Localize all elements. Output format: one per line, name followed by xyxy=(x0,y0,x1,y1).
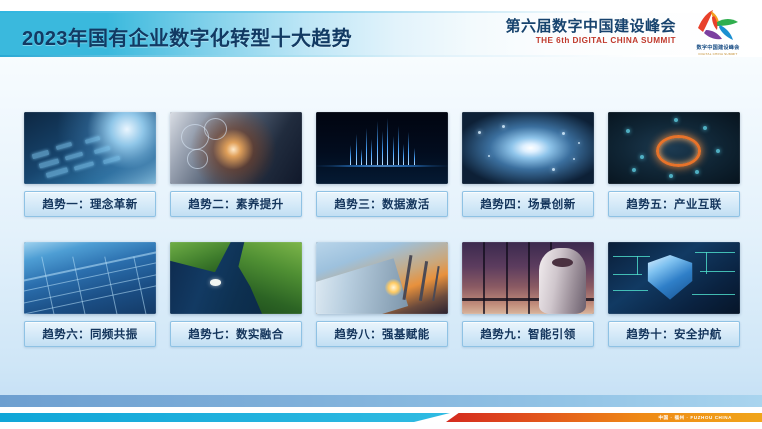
summit-logo-caption-en: DIGITAL CHINA SUMMIT xyxy=(686,52,750,56)
trend-card-grid: 趋势一：理念革新 趋势二：素养提升 xyxy=(24,112,740,347)
trend-thumbnail-2 xyxy=(170,112,302,184)
trend-label-7: 趋势七：数实融合 xyxy=(170,321,302,347)
trend-card-9[interactable]: 趋势九：智能引领 xyxy=(462,242,594,347)
bridge-sunset-icon xyxy=(316,242,448,314)
trend-thumbnail-8 xyxy=(316,242,448,314)
trend-label-text-9: 趋势九：智能引领 xyxy=(480,326,575,342)
trend-thumbnail-1 xyxy=(24,112,156,184)
trend-label-text-5: 趋势五：产业互联 xyxy=(626,196,721,212)
data-tunnel-keyboard-icon xyxy=(24,112,156,184)
robot-cityscape-icon xyxy=(462,242,594,314)
security-shield-circuit-icon xyxy=(608,242,740,314)
mangrove-river-icon xyxy=(170,242,302,314)
trend-thumbnail-4 xyxy=(462,112,594,184)
trend-card-1[interactable]: 趋势一：理念革新 xyxy=(24,112,156,217)
trend-thumbnail-10 xyxy=(608,242,740,314)
trend-thumbnail-9 xyxy=(462,242,594,314)
trend-card-3[interactable]: 趋势三：数据激活 xyxy=(316,112,448,217)
trend-card-8[interactable]: 趋势八：强基赋能 xyxy=(316,242,448,347)
summit-logo-caption: 数字中国建设峰会 DIGITAL CHINA SUMMIT xyxy=(686,44,750,56)
trend-thumbnail-7 xyxy=(170,242,302,314)
trend-label-text-10: 趋势十：安全护航 xyxy=(626,326,721,342)
trend-card-7[interactable]: 趋势七：数实融合 xyxy=(170,242,302,347)
trend-label-5: 趋势五：产业互联 xyxy=(608,191,740,217)
trend-label-4: 趋势四：场景创新 xyxy=(462,191,594,217)
page-title: 2023年国有企业数字化转型十大趋势 xyxy=(22,22,352,51)
trend-card-2[interactable]: 趋势二：素养提升 xyxy=(170,112,302,217)
trend-card-10[interactable]: 趋势十：安全护航 xyxy=(608,242,740,347)
trend-thumbnail-3 xyxy=(316,112,448,184)
trend-label-2: 趋势二：素养提升 xyxy=(170,191,302,217)
trend-thumbnail-6 xyxy=(24,242,156,314)
summit-title-en: THE 6th DIGITAL CHINA SUMMIT xyxy=(505,37,676,45)
trend-row-2: 趋势六：同频共振 趋势七：数实融合 xyxy=(24,242,740,347)
trend-row-1: 趋势一：理念革新 趋势二：素养提升 xyxy=(24,112,740,217)
trend-label-10: 趋势十：安全护航 xyxy=(608,321,740,347)
summit-lockup: 第六届数字中国建设峰会 THE 6th DIGITAL CHINA SUMMIT xyxy=(505,19,676,45)
trend-label-1: 趋势一：理念革新 xyxy=(24,191,156,217)
trend-label-8: 趋势八：强基赋能 xyxy=(316,321,448,347)
trend-label-3: 趋势三：数据激活 xyxy=(316,191,448,217)
summit-logo: 数字中国建设峰会 DIGITAL CHINA SUMMIT xyxy=(686,6,750,58)
trend-card-5[interactable]: 趋势五：产业互联 xyxy=(608,112,740,217)
trend-label-text-3: 趋势三：数据激活 xyxy=(334,196,429,212)
trend-label-text-8: 趋势八：强基赋能 xyxy=(334,326,429,342)
cloud-iot-hub-icon xyxy=(608,112,740,184)
footer-ribbon-cyan xyxy=(0,413,450,422)
trend-card-6[interactable]: 趋势六：同频共振 xyxy=(24,242,156,347)
hands-control-panel-icon xyxy=(170,112,302,184)
trend-label-text-7: 趋势七：数实融合 xyxy=(188,326,283,342)
blue-waveform-icon xyxy=(316,112,448,184)
trend-label-6: 趋势六：同频共振 xyxy=(24,321,156,347)
footer-location-text: 中国 · 福州 · FUZHOU CHINA xyxy=(658,415,732,421)
trend-card-4[interactable]: 趋势四：场景创新 xyxy=(462,112,594,217)
trend-thumbnail-5 xyxy=(608,112,740,184)
trend-label-text-2: 趋势二：素养提升 xyxy=(188,196,283,212)
presentation-slide: 2023年国有企业数字化转型十大趋势 第六届数字中国建设峰会 THE 6th D… xyxy=(0,0,762,429)
trend-label-text-6: 趋势六：同频共振 xyxy=(42,326,137,342)
solar-panels-icon xyxy=(24,242,156,314)
summit-title-cn: 第六届数字中国建设峰会 xyxy=(505,19,676,34)
trend-label-9: 趋势九：智能引领 xyxy=(462,321,594,347)
summit-logo-calligraphy-icon xyxy=(692,6,744,44)
footer-blue-band xyxy=(0,395,762,407)
network-light-burst-icon xyxy=(462,112,594,184)
summit-logo-caption-cn: 数字中国建设峰会 xyxy=(686,44,750,51)
trend-label-text-4: 趋势四：场景创新 xyxy=(480,196,575,212)
trend-label-text-1: 趋势一：理念革新 xyxy=(42,196,137,212)
